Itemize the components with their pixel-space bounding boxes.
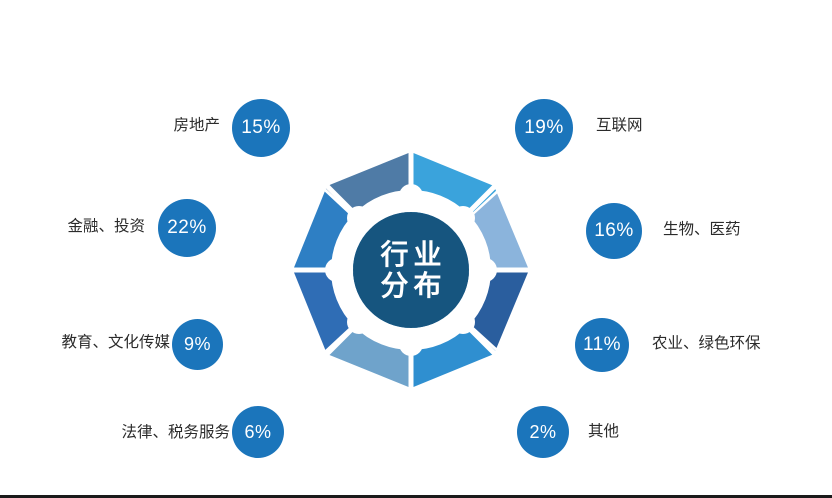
center-disc — [353, 212, 469, 328]
pct-bubble-finance-investment[interactable]: 22% — [158, 199, 216, 257]
category-label-finance-investment: 金融、投资 — [0, 219, 145, 235]
pct-bubble-legal-tax[interactable]: 6% — [232, 406, 284, 458]
category-label-biotech-pharma: 生物、医药 — [663, 222, 832, 238]
puzzle-graphic — [283, 142, 539, 398]
category-label-real-estate: 房地产 — [80, 118, 220, 134]
pct-bubble-internet[interactable]: 19% — [515, 99, 573, 157]
industry-distribution-infographic: 行业 分布 房地产 15% 金融、投资 22% 教育、文化传媒 9% 法律、税务… — [0, 0, 832, 498]
category-label-education-media: 教育、文化传媒 — [0, 335, 170, 351]
category-label-agriculture-green: 农业、绿色环保 — [652, 336, 832, 352]
pct-bubble-real-estate[interactable]: 15% — [232, 99, 290, 157]
category-label-legal-tax: 法律、税务服务 — [40, 425, 230, 441]
pct-bubble-agriculture-green[interactable]: 11% — [575, 318, 629, 372]
category-label-others: 其他 — [588, 424, 738, 440]
pct-bubble-education-media[interactable]: 9% — [172, 319, 223, 370]
pct-bubble-biotech-pharma[interactable]: 16% — [586, 203, 642, 259]
pct-bubble-others[interactable]: 2% — [517, 406, 569, 458]
category-label-internet: 互联网 — [596, 118, 776, 134]
puzzle-emblem: 行业 分布 — [283, 142, 539, 398]
